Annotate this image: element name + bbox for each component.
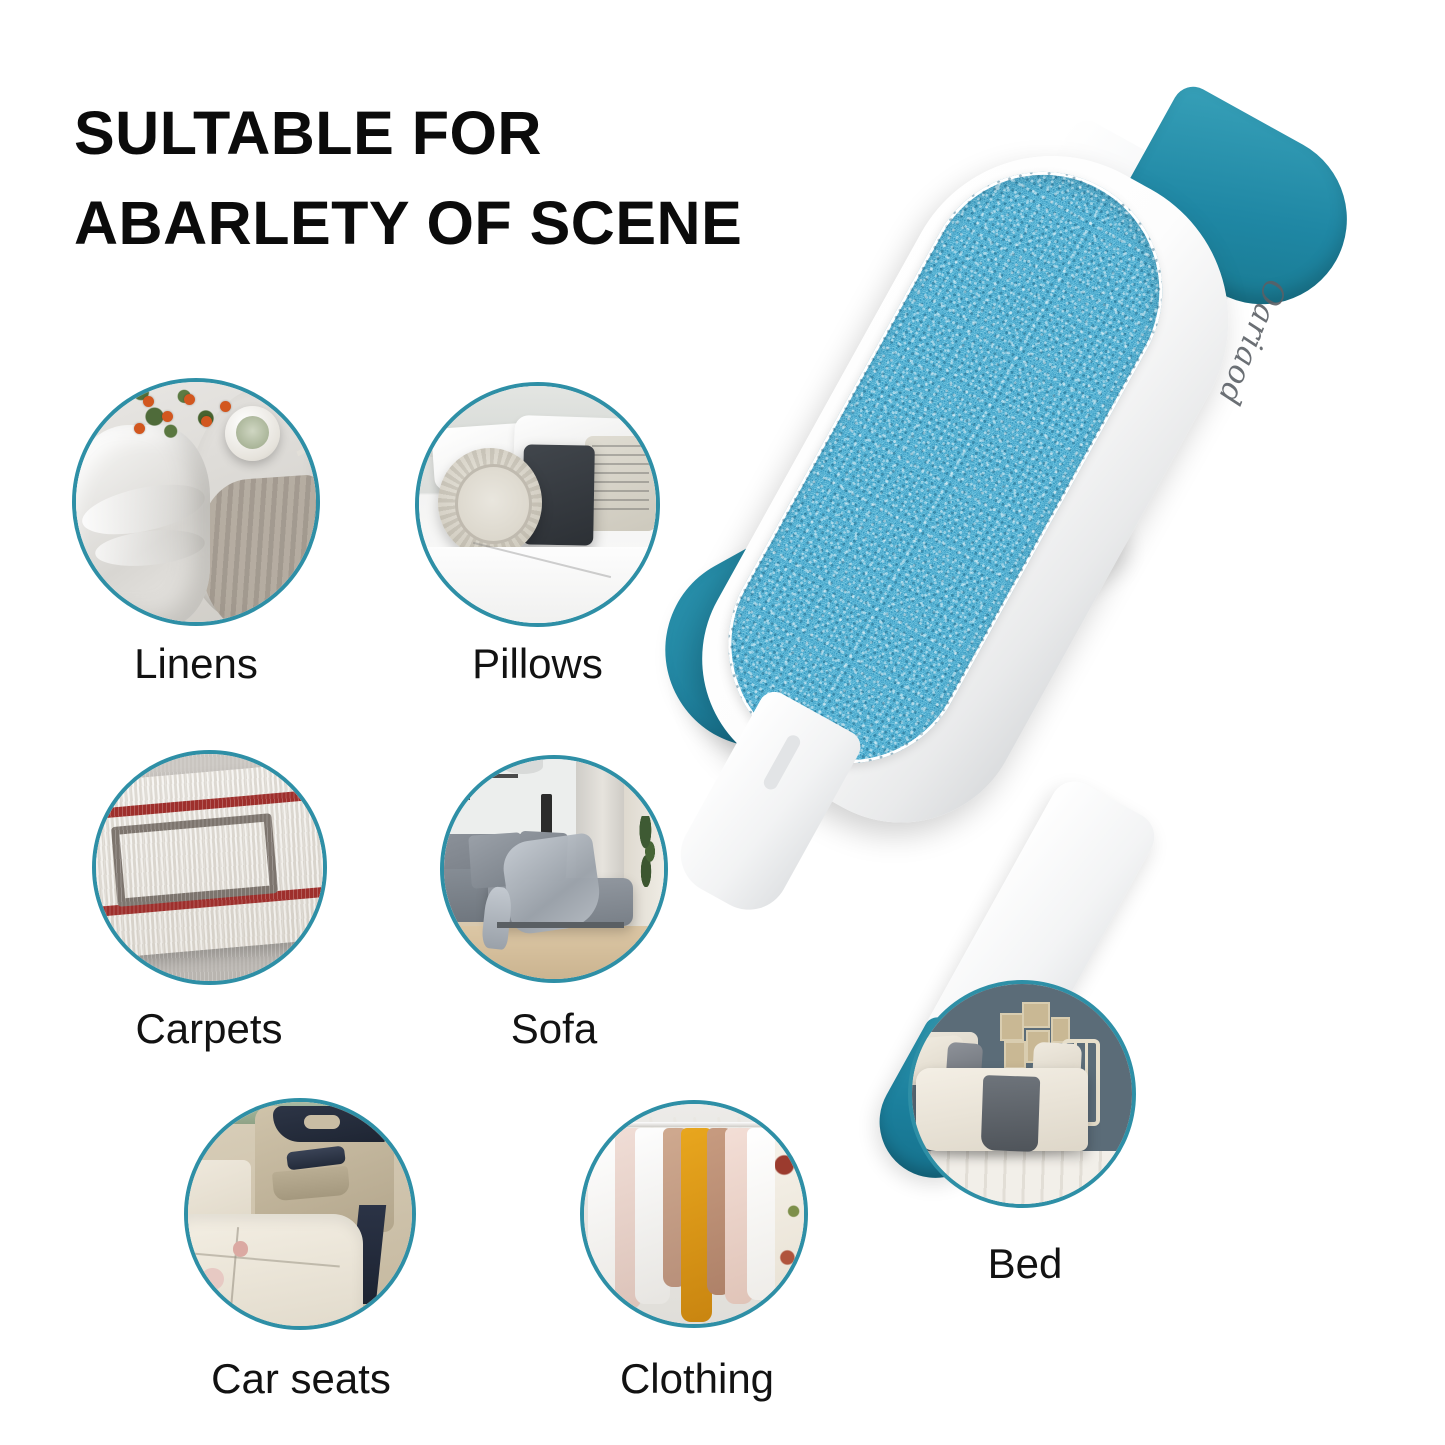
scene-image-bed (908, 980, 1136, 1208)
scene-label-clothing: Clothing (566, 1355, 828, 1403)
sofa-art (444, 759, 664, 979)
scene-label-bed: Bed (894, 1240, 1156, 1288)
car-seats-art (188, 1102, 412, 1326)
scene-label-car-seats: Car seats (170, 1355, 432, 1403)
scene-image-clothing (580, 1100, 808, 1328)
linens-art (76, 382, 316, 622)
scene-image-sofa (440, 755, 668, 983)
scene-label-carpets: Carpets (78, 1005, 340, 1053)
brush-paddle (586, 102, 1282, 997)
clothing-art (584, 1104, 804, 1324)
scene-label-sofa: Sofa (440, 1005, 668, 1053)
carpets-art (96, 754, 323, 981)
bed-art (912, 984, 1132, 1204)
infographic-canvas: SULTABLE FOR ABARLETY OF SCENE Oariaod (0, 0, 1445, 1445)
scene-image-linens (72, 378, 320, 626)
scene-label-pillows: Pillows (415, 640, 660, 688)
pillows-art (419, 386, 656, 623)
scene-image-carpets (92, 750, 327, 985)
scene-image-pillows (415, 382, 660, 627)
scene-label-linens: Linens (72, 640, 320, 688)
scene-image-car-seats (184, 1098, 416, 1330)
